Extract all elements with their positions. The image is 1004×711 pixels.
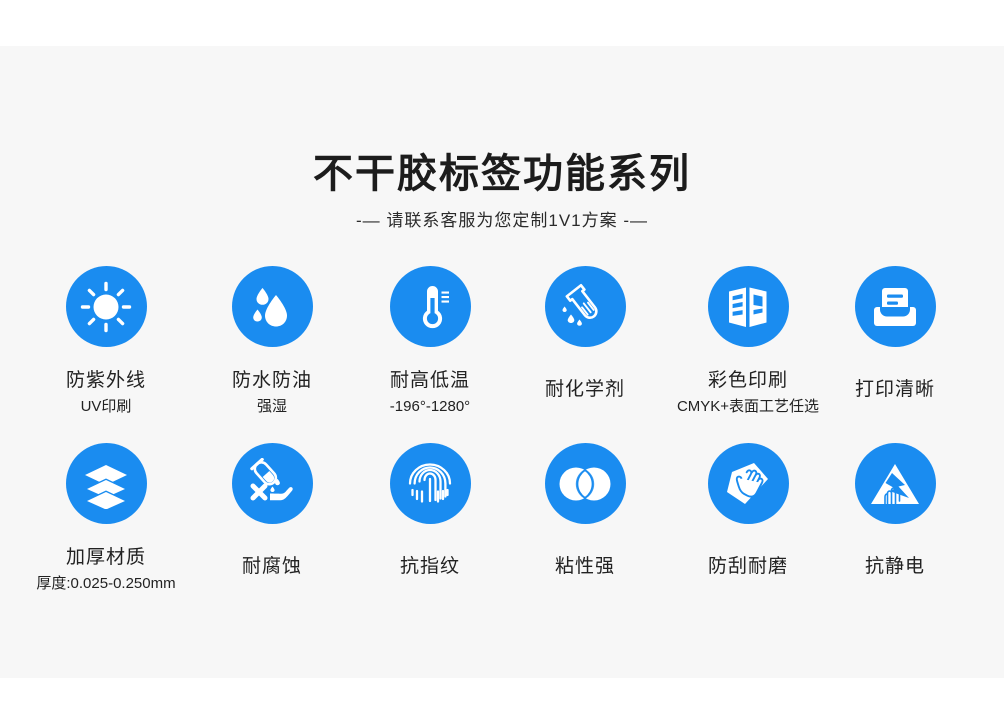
feature-card-antistatic[interactable]: 抗静电: [810, 443, 980, 579]
feature-card-chemical[interactable]: 耐化学剂: [500, 266, 670, 402]
feature-card-antifingerprint[interactable]: 抗指纹: [345, 443, 515, 579]
fingerprint-icon: [390, 443, 471, 524]
thermometer-icon: [390, 266, 471, 347]
color-printing-icon: [708, 266, 789, 347]
header-block: 不干胶标签功能系列 -— 请联系客服为您定制1V1方案 -—: [0, 148, 1004, 233]
feature-label: 加厚材质: [21, 545, 191, 570]
adhesion-venn-icon: [545, 443, 626, 524]
feature-sublabel: 强湿: [187, 397, 357, 417]
layers-icon: [66, 443, 147, 524]
corrosion-resistant-icon: [232, 443, 313, 524]
feature-card-thickness[interactable]: 加厚材质 厚度:0.025-0.250mm: [21, 443, 191, 594]
feature-label: 耐高低温: [345, 368, 515, 393]
feature-label: 防刮耐磨: [663, 554, 833, 579]
beaker-pour-icon: [545, 266, 626, 347]
printer-icon: [855, 266, 936, 347]
wipe-hand-cloth-icon: [708, 443, 789, 524]
feature-label: 抗指纹: [345, 554, 515, 579]
feature-card-temperature[interactable]: 耐高低温 -196°-1280°: [345, 266, 515, 417]
feature-card-print-clarity[interactable]: 打印清晰: [810, 266, 980, 402]
feature-label: 粘性强: [500, 554, 670, 579]
page-title: 不干胶标签功能系列: [0, 148, 1004, 200]
feature-card-color-printing[interactable]: 彩色印刷 CMYK+表面工艺任选: [663, 266, 833, 417]
feature-card-adhesion[interactable]: 粘性强: [500, 443, 670, 579]
feature-label: 彩色印刷: [663, 368, 833, 393]
water-drops-icon: [232, 266, 313, 347]
feature-card-corrosion[interactable]: 耐腐蚀: [187, 443, 357, 579]
feature-card-waterproof[interactable]: 防水防油 强湿: [187, 266, 357, 417]
feature-sublabel: UV印刷: [21, 397, 191, 417]
feature-label: 防紫外线: [21, 368, 191, 393]
feature-sublabel: CMYK+表面工艺任选: [663, 397, 833, 417]
feature-card-scratch[interactable]: 防刮耐磨: [663, 443, 833, 579]
feature-card-uv[interactable]: 防紫外线 UV印刷: [21, 266, 191, 417]
feature-sublabel: -196°-1280°: [345, 397, 515, 417]
feature-label: 防水防油: [187, 368, 357, 393]
page-subtitle: -— 请联系客服为您定制1V1方案 -—: [0, 209, 1004, 233]
promo-feature-banner: 不干胶标签功能系列 -— 请联系客服为您定制1V1方案 -—: [0, 0, 1004, 711]
feature-sublabel: 厚度:0.025-0.250mm: [21, 574, 191, 594]
feature-label: 打印清晰: [810, 377, 980, 402]
feature-label: 抗静电: [810, 554, 980, 579]
feature-label: 耐化学剂: [500, 377, 670, 402]
esd-antistatic-icon: [855, 443, 936, 524]
feature-label: 耐腐蚀: [187, 554, 357, 579]
sun-icon: [66, 266, 147, 347]
